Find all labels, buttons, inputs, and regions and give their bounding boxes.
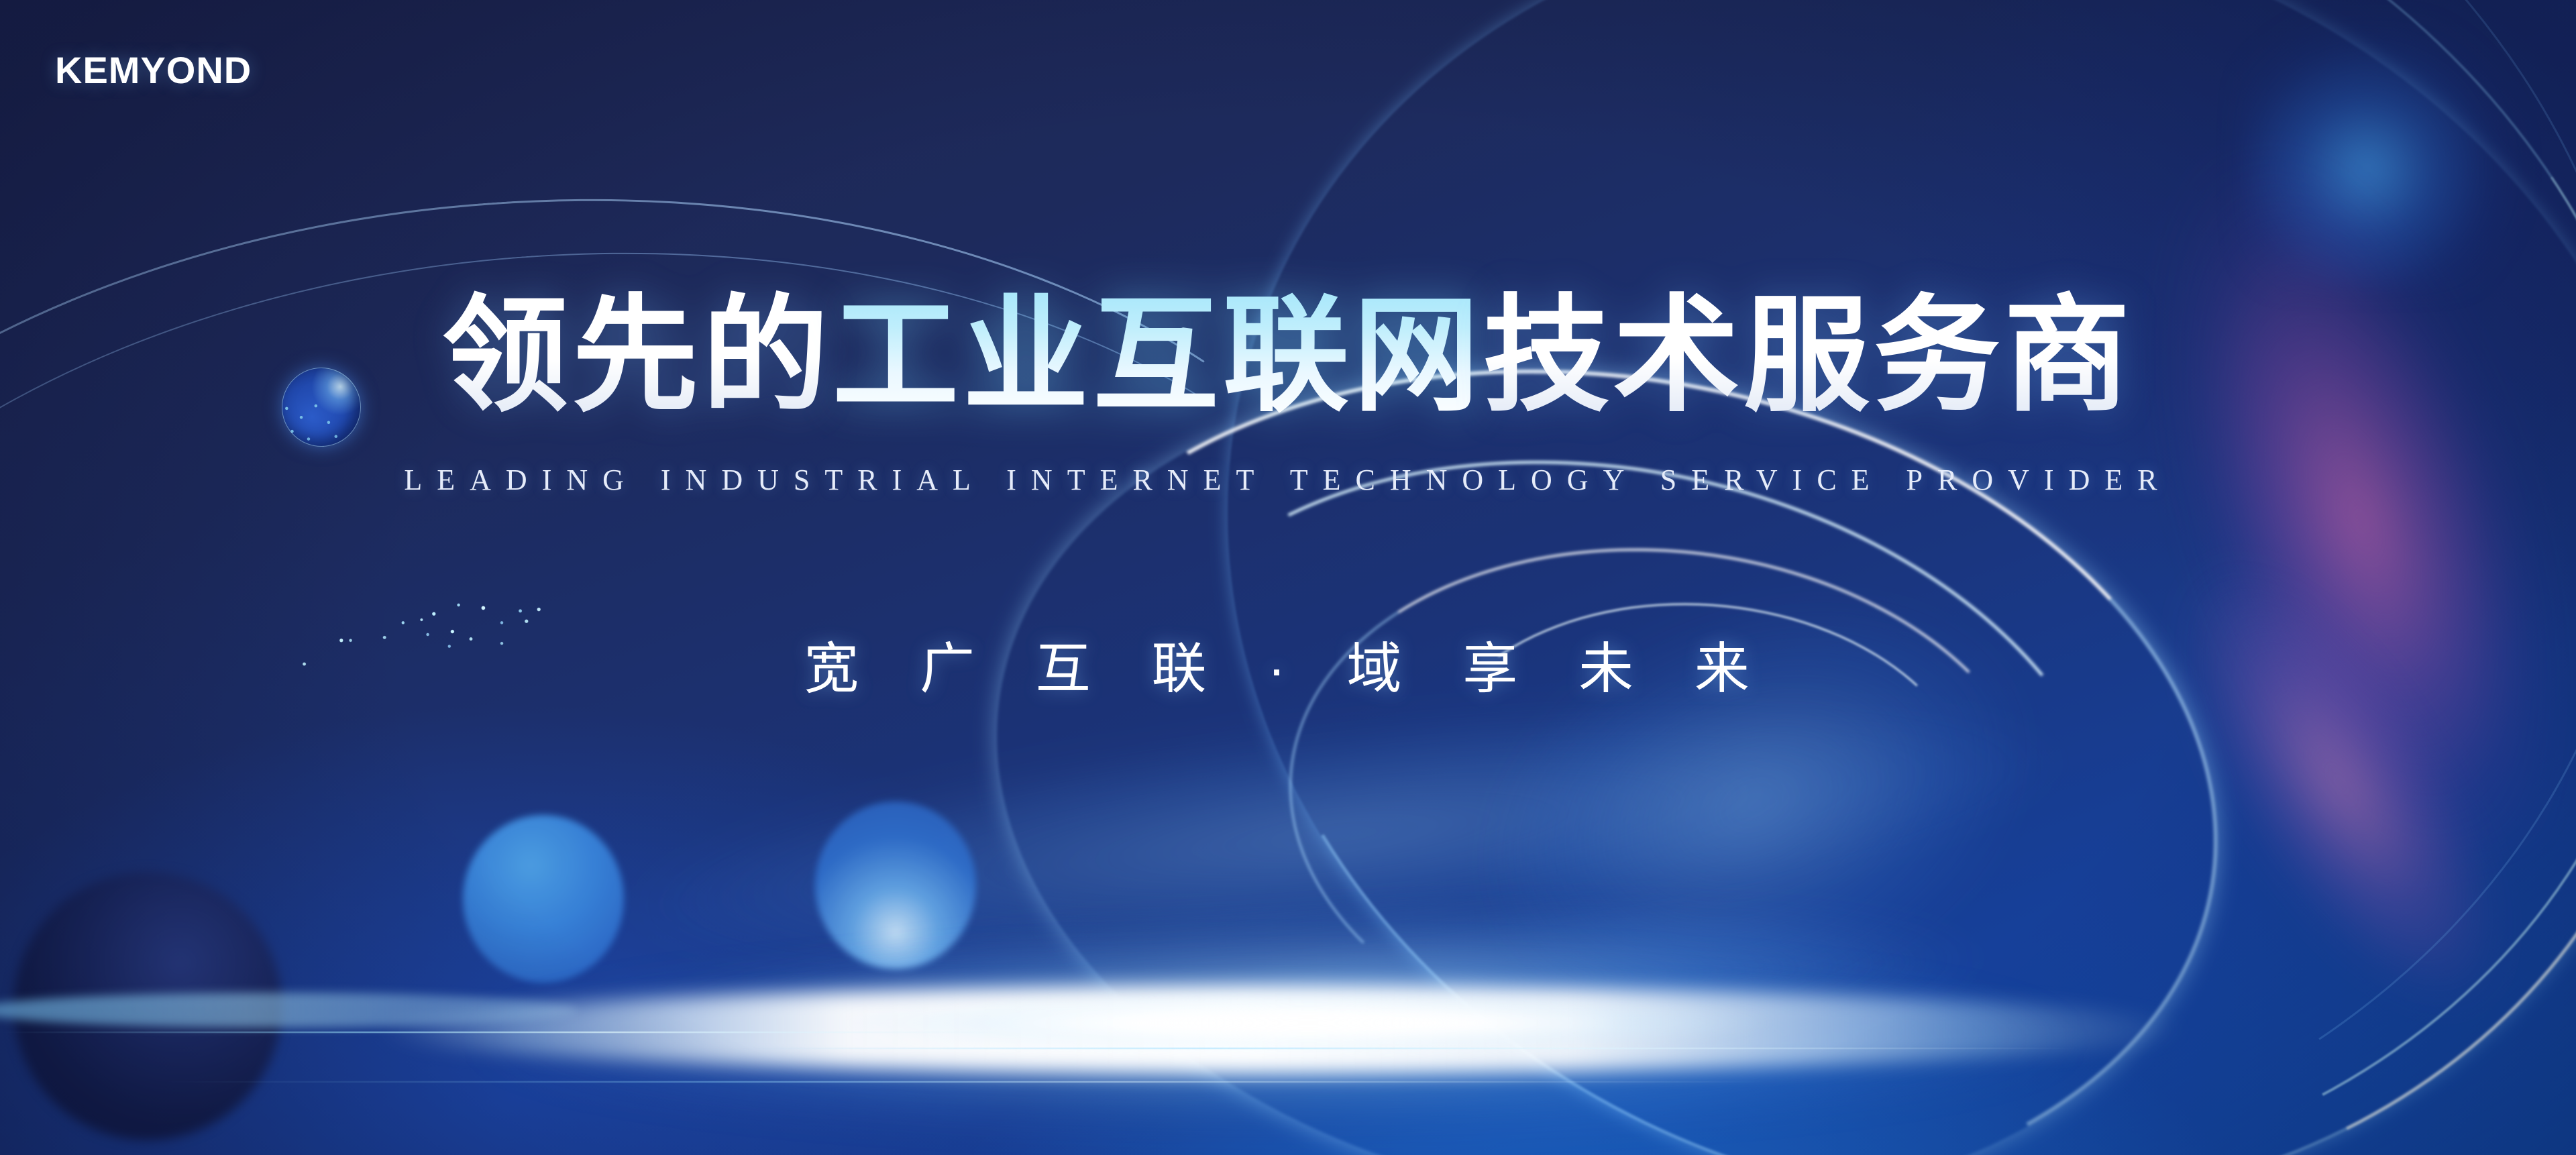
blue-glow-orb-icon xyxy=(2241,20,2522,288)
arc-line xyxy=(693,0,2576,1155)
light-ribbon-sheet xyxy=(172,403,2310,1155)
horizontal-light-beam xyxy=(376,986,2187,1073)
page-title: 领先的工业互联网技术服务商 xyxy=(0,290,2576,422)
light-ribbon-sheet-lower xyxy=(323,687,2293,1155)
dark-navy-sphere xyxy=(13,872,282,1140)
headline-segment-tail: 技术服务商 xyxy=(1483,285,2134,426)
thin-light-line xyxy=(161,1081,1771,1083)
light-beam-hotspot xyxy=(839,993,1778,1053)
promotional-banner: KEMYOND 领先的工业互联网技术服务商 LEADING INDUSTRIAL… xyxy=(0,0,2576,1155)
magenta-light-streak xyxy=(1886,86,2576,974)
light-blue-sphere xyxy=(815,802,976,969)
vignette-overlay xyxy=(0,0,2576,1155)
light-blue-sphere xyxy=(463,815,624,983)
brand-logo[interactable]: KEMYOND xyxy=(55,48,252,92)
arc-line-bright xyxy=(1263,512,2070,1103)
thin-light-line xyxy=(738,1048,2080,1049)
subtitle-english: LEADING INDUSTRIAL INTERNET TECHNOLOGY S… xyxy=(0,463,2576,497)
arc-line xyxy=(1073,0,2576,1155)
thin-light-line xyxy=(0,1032,1006,1033)
magenta-light-streak-secondary xyxy=(2019,441,2576,1128)
bottom-light-glow xyxy=(201,926,2348,1154)
arc-line xyxy=(903,0,2576,1155)
tagline-slogan: 宽 广 互 联 · 域 享 未 来 xyxy=(0,624,2576,704)
headline-segment-accent: 工业互联网 xyxy=(833,285,1483,426)
headline-segment-primary: 领先的 xyxy=(442,285,833,426)
light-beam-left xyxy=(0,993,577,1028)
